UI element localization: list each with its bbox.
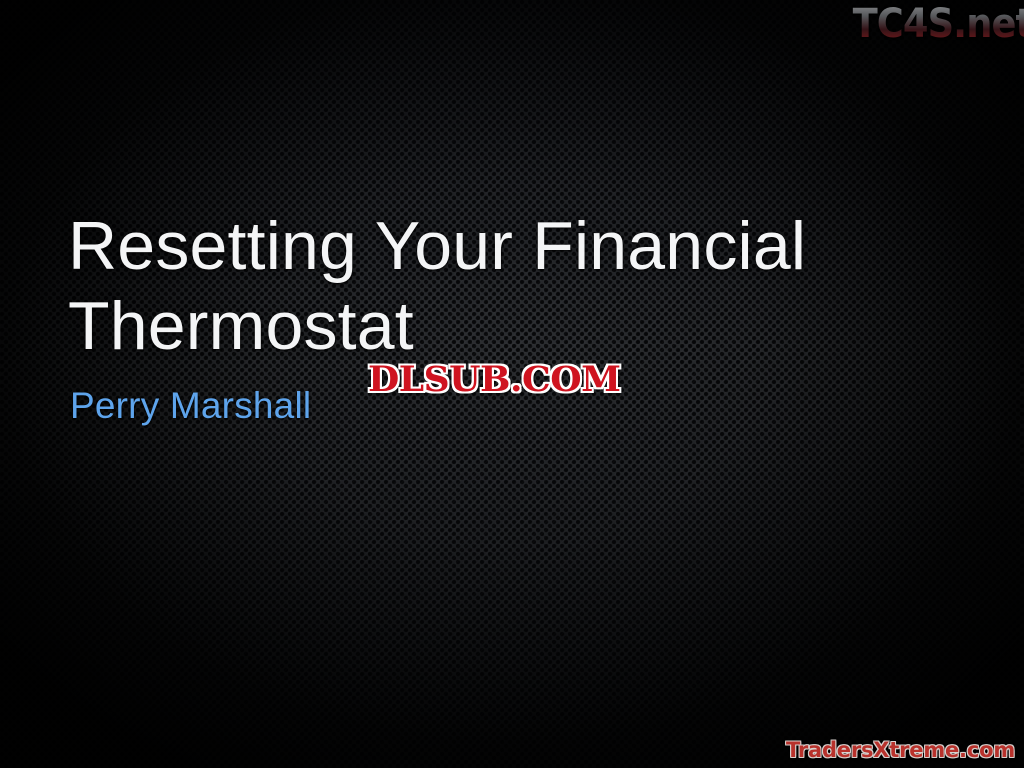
slide-title: Resetting Your Financial Thermostat	[68, 206, 948, 366]
presentation-slide: Resetting Your Financial Thermostat Perr…	[0, 0, 1024, 768]
watermark-tradersxtreme: TradersXtreme.com	[786, 738, 1015, 762]
watermark-dlsub: DLSUB.COM	[368, 360, 620, 400]
watermark-tc4s: TC4S.net	[852, 2, 1024, 46]
